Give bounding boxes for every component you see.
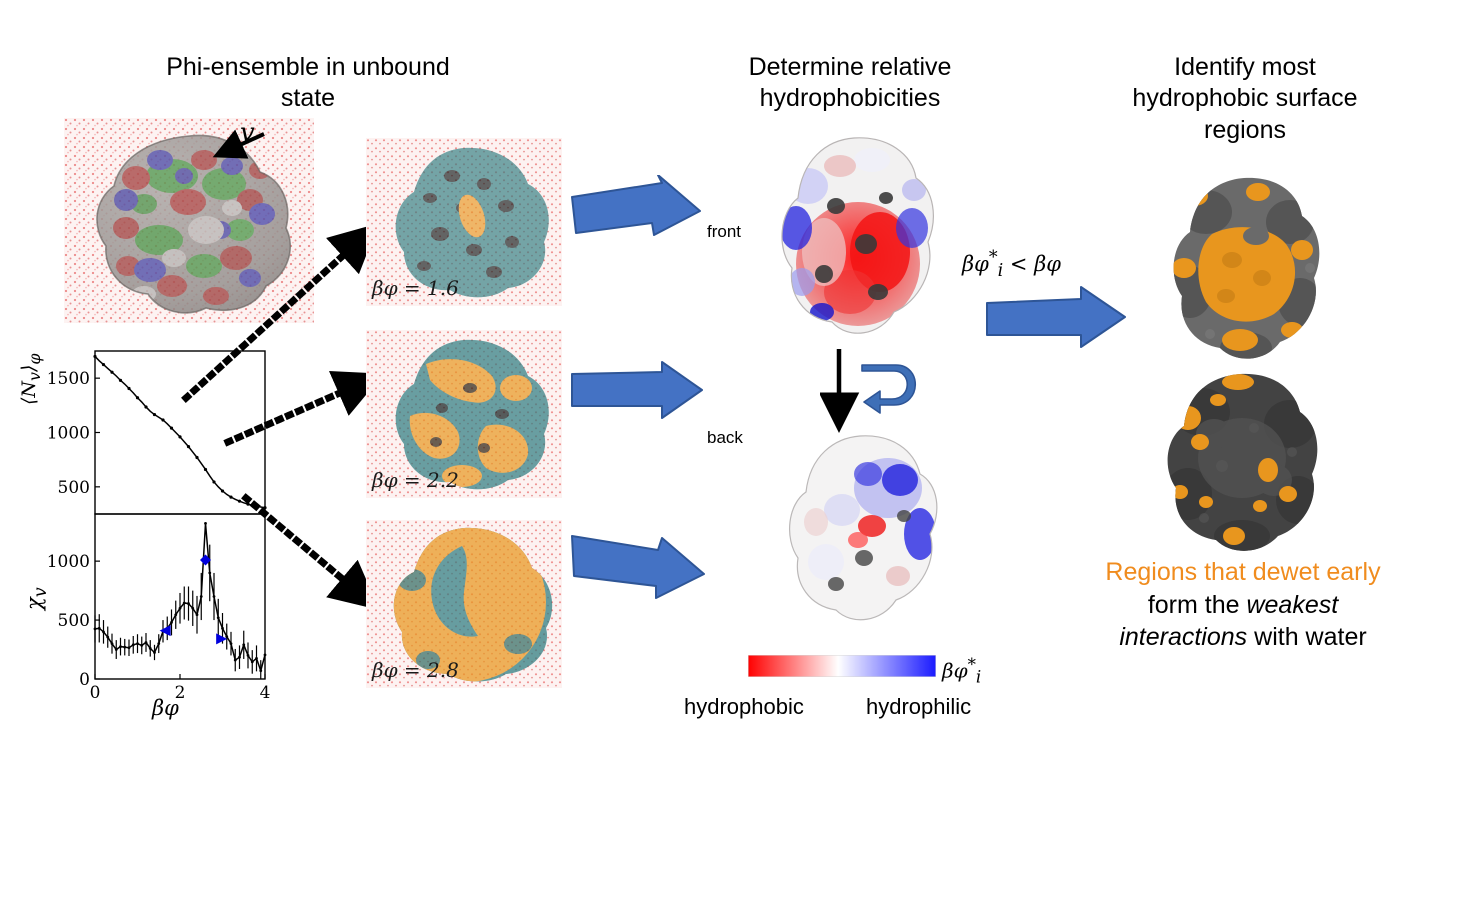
- front-view-label: front: [707, 222, 741, 242]
- conclusion-line-2-italic: weakest: [1246, 591, 1338, 619]
- svg-text:1000: 1000: [47, 552, 90, 572]
- probe-volume-label: v: [240, 118, 255, 148]
- conclusion-line-3-italic: interactions: [1119, 623, 1247, 651]
- heading-right-line2: hydrophobic surface: [1080, 83, 1410, 114]
- axis-label-betaphi-x: βφ: [152, 696, 179, 720]
- snapshot-label-2: βφ = 2.2: [372, 468, 459, 492]
- dotted-pointer-arrows: [120, 180, 390, 640]
- snapshot-label-1: βφ = 1.6: [372, 276, 459, 300]
- heading-middle: Determine relative hydrophobicities: [700, 52, 1000, 115]
- heading-right: Identify most hydrophobic surface region…: [1080, 52, 1410, 146]
- conclusion-line-3-plain: with water: [1247, 623, 1366, 651]
- hydrophobic-regions-top: [1150, 172, 1340, 362]
- axis-label-nv: ⟨Nv⟩φ: [18, 353, 44, 405]
- conclusion-line-3: interactions with water: [1048, 621, 1438, 654]
- hydrophobic-regions-bottom: [1142, 368, 1342, 553]
- axis-label-chi: χv: [22, 587, 51, 610]
- conclusion-text: Regions that dewet early form the weakes…: [1048, 556, 1438, 654]
- rotate-arrow-group: [820, 345, 960, 440]
- arrow-to-front-view: [570, 175, 705, 270]
- heading-left-line2: state: [148, 83, 468, 114]
- arrow-to-back-view: [570, 520, 710, 615]
- colorbar-low-label: hydrophobic: [684, 694, 804, 720]
- heading-left: Phi-ensemble in unbound state: [148, 52, 468, 115]
- svg-text:1500: 1500: [47, 369, 90, 389]
- conclusion-line-1: Regions that dewet early: [1048, 556, 1438, 589]
- arrow-to-electrostatics-mid: [570, 360, 705, 440]
- back-view-label: back: [707, 428, 743, 448]
- heading-right-line3: regions: [1080, 115, 1410, 146]
- heading-mid-line2: hydrophobicities: [700, 83, 1000, 114]
- colorbar-quantity-label: βφ*i: [942, 655, 981, 687]
- svg-text:4: 4: [260, 683, 271, 703]
- rotation-icon: [862, 365, 915, 413]
- heading-left-line1: Phi-ensemble in unbound: [148, 52, 468, 83]
- snapshot-label-3: βφ = 2.8: [372, 658, 459, 682]
- arrow-to-hydrophobic-regions: [985, 285, 1130, 365]
- conclusion-line-2-plain: form the: [1148, 591, 1247, 619]
- electrostatic-surface-front: [762, 132, 952, 352]
- colorbar: [748, 655, 936, 677]
- heading-mid-line1: Determine relative: [700, 52, 1000, 83]
- conclusion-line-2: form the weakest: [1048, 589, 1438, 622]
- electrostatic-surface-back: [772, 430, 952, 630]
- phi-condition-label: βφ*i < βφ: [962, 248, 1061, 281]
- heading-right-line1: Identify most: [1080, 52, 1410, 83]
- svg-text:1000: 1000: [47, 424, 90, 444]
- svg-text:0: 0: [90, 683, 101, 703]
- svg-text:500: 500: [58, 611, 90, 631]
- svg-text:500: 500: [58, 478, 90, 498]
- colorbar-high-label: hydrophilic: [866, 694, 971, 720]
- svg-text:0: 0: [79, 670, 90, 690]
